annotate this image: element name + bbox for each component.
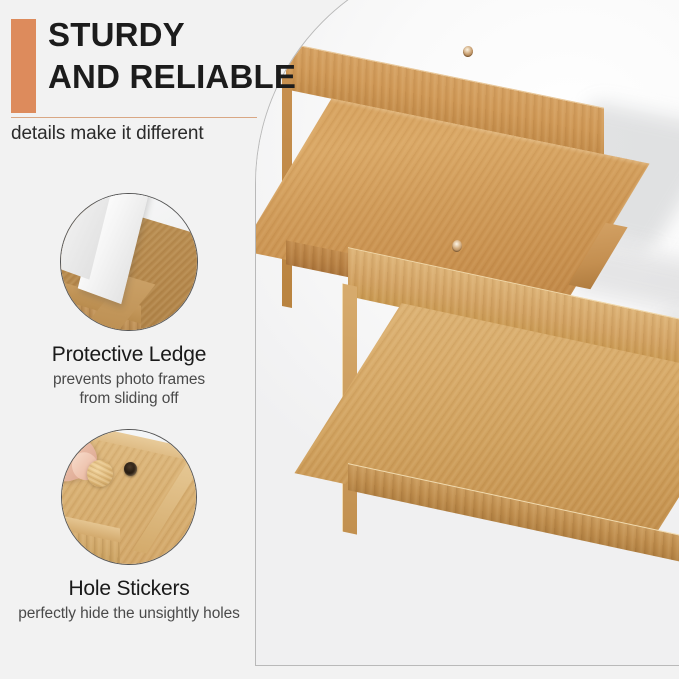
upper-shelf-screw-hole-icon bbox=[462, 45, 474, 58]
feature-1-description-line-2: from sliding off bbox=[80, 390, 179, 407]
feature-1-illustration bbox=[61, 194, 197, 330]
shelf-scene bbox=[256, 0, 679, 665]
title-divider bbox=[11, 117, 257, 118]
feature-2-title: Hole Stickers bbox=[0, 577, 258, 601]
feature-2-illustration bbox=[62, 430, 196, 564]
feature-1-image bbox=[60, 193, 198, 331]
feature-1-title: Protective Ledge bbox=[0, 343, 258, 367]
headline-line-1: STURDY bbox=[48, 16, 185, 53]
feature-2-description-line-1: perfectly hide the unsightly holes bbox=[18, 605, 240, 622]
feature-2-screw-hole-icon bbox=[124, 462, 137, 476]
feature-1-description: prevents photo frames from sliding off bbox=[0, 370, 258, 408]
page-subtitle: details make it different bbox=[11, 123, 271, 145]
feature-2-description: perfectly hide the unsightly holes bbox=[0, 604, 258, 623]
infographic-stage: STURDY AND RELIABLE details make it diff… bbox=[0, 0, 679, 679]
accent-bar bbox=[11, 19, 36, 113]
headline-line-2: AND RELIABLE bbox=[48, 56, 348, 98]
left-content-column: STURDY AND RELIABLE details make it diff… bbox=[0, 0, 258, 679]
feature-2-image bbox=[61, 429, 197, 565]
page-title: STURDY AND RELIABLE bbox=[48, 14, 348, 98]
feature-2-wood-sticker-icon bbox=[87, 460, 113, 487]
hero-product-panel bbox=[255, 0, 679, 666]
feature-block-protective-ledge: Protective Ledge prevents photo frames f… bbox=[0, 193, 258, 408]
feature-block-hole-stickers: Hole Stickers perfectly hide the unsight… bbox=[0, 429, 258, 623]
feature-1-description-line-1: prevents photo frames bbox=[53, 371, 205, 388]
